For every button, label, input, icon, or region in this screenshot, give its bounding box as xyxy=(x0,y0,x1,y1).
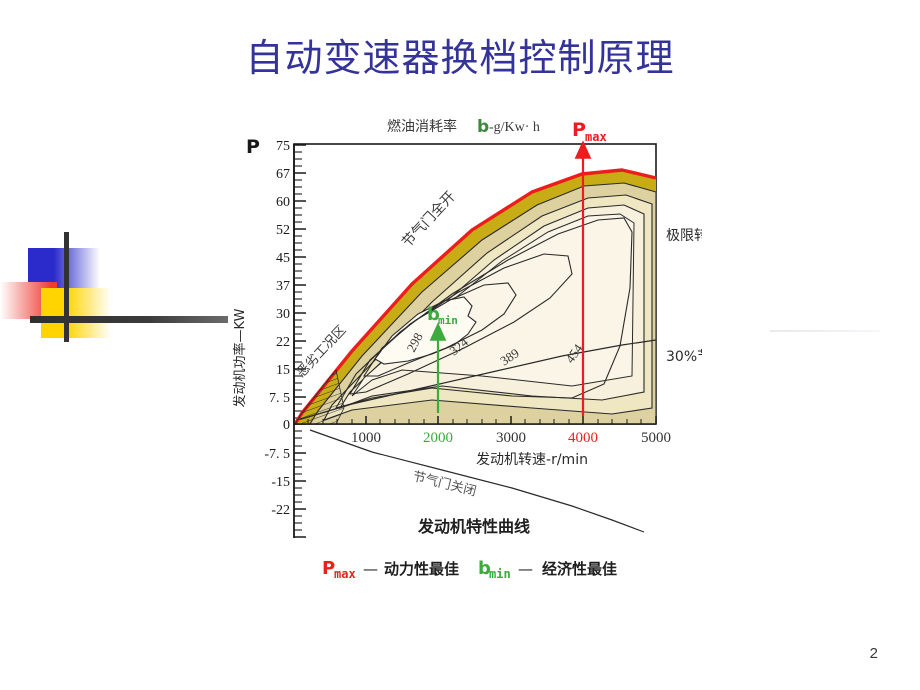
decorative-artwork xyxy=(0,230,240,370)
fuel-consumption-label-suffix: -g/Kw· h xyxy=(489,120,540,135)
throttle-closed-label: 节气门关闭 xyxy=(411,468,478,499)
x-tick-label: 3000 xyxy=(496,430,526,446)
x-tick-label: 4000 xyxy=(568,430,598,446)
x-tick-label: 1000 xyxy=(351,430,381,446)
legend-bmin-text: 经济性最佳 xyxy=(542,560,617,578)
y-axis-unit-marker: P xyxy=(246,136,260,158)
y-tick-label: -22 xyxy=(271,503,290,518)
x-axis-labels: 1000 2000 3000 4000 5000 xyxy=(351,430,671,446)
deco-yellow-square xyxy=(41,288,111,338)
x-tick-label: 2000 xyxy=(423,430,453,446)
x-axis-title: 发动机转速-r/min xyxy=(476,452,588,468)
y-tick-label: 22 xyxy=(276,335,290,350)
slide: 自动变速器换档控制原理 燃油消耗率 b xyxy=(0,0,920,690)
figure-caption: 发动机特性曲线 xyxy=(417,517,530,536)
engine-characteristic-figure: 燃油消耗率 b -g/Kw· h P 75 67 60 52 45 37 30 … xyxy=(232,108,702,608)
legend-pmax-dash: — xyxy=(363,560,378,578)
throttle-full-label: 节气门全开 xyxy=(398,188,458,251)
deco-right-rule xyxy=(770,330,880,332)
speed-limit-label: 极限转速 xyxy=(666,228,702,244)
bmin-label-subscript: min xyxy=(438,314,458,327)
fuel-consumption-label-prefix: 燃油消耗率 xyxy=(387,118,457,135)
y-tick-label: -15 xyxy=(271,475,290,490)
y-axis-labels: 75 67 60 52 45 37 30 22 15 7. 5 0 -7. 5 … xyxy=(264,139,290,518)
legend-bmin-subscript: min xyxy=(489,567,511,581)
y-tick-label: 37 xyxy=(276,279,290,294)
y-tick-label: 45 xyxy=(276,251,290,266)
pmax-label: P xyxy=(572,119,586,141)
legend-bmin-dash: — xyxy=(518,560,533,578)
deco-vertical-bar xyxy=(64,232,69,342)
y-tick-label: 75 xyxy=(276,139,290,154)
figure-legend: P max — 动力性最佳 b min — 经济性最佳 xyxy=(322,558,617,581)
x-tick-label: 5000 xyxy=(641,430,671,446)
y-tick-label: 7. 5 xyxy=(269,391,290,406)
throttle-30-label: 30%节气门 xyxy=(666,349,702,365)
y-tick-label: 15 xyxy=(276,363,290,378)
y-tick-label: 30 xyxy=(276,307,290,322)
y-tick-label: 0 xyxy=(283,418,290,433)
y-tick-label: 60 xyxy=(276,195,290,210)
page-title: 自动变速器换档控制原理 xyxy=(0,34,920,82)
y-axis-ticks xyxy=(294,145,306,537)
y-tick-label: 67 xyxy=(276,167,290,182)
y-axis-title: 发动机功率—KW xyxy=(232,308,248,407)
y-tick-label: -7. 5 xyxy=(264,447,290,462)
fuel-consumption-symbol: b xyxy=(477,117,489,137)
legend-pmax-text: 动力性最佳 xyxy=(384,560,459,578)
pmax-label-subscript: max xyxy=(585,130,607,144)
page-number: 2 xyxy=(870,645,878,662)
y-tick-label: 52 xyxy=(276,223,290,238)
legend-pmax-subscript: max xyxy=(334,567,356,581)
deco-horizontal-bar xyxy=(30,316,228,323)
